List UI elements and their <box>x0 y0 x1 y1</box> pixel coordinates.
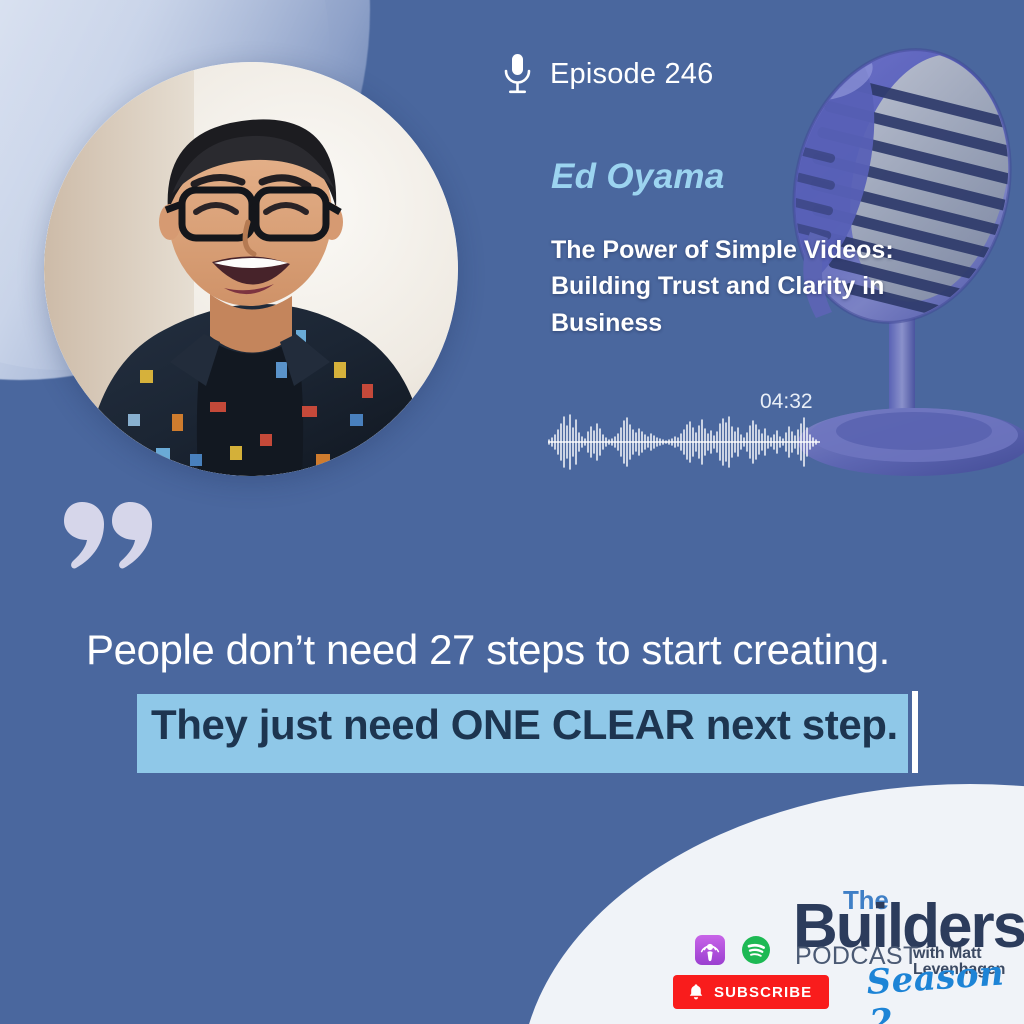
brand-content: The Builders PODCAST with Matt Levenhage… <box>0 0 1024 1024</box>
subscribe-label: SUBSCRIBE <box>714 984 812 1001</box>
platform-icons <box>695 935 771 965</box>
apple-podcasts-icon[interactable] <box>695 935 725 965</box>
subscribe-button[interactable]: SUBSCRIBE <box>673 975 829 1009</box>
spotify-icon[interactable] <box>741 935 771 965</box>
bell-icon <box>687 983 705 1001</box>
logo-season: Season 2 <box>865 952 1024 1024</box>
podcast-promo-graphic: Episode 246 Ed Oyama The Power of Simple… <box>0 0 1024 1024</box>
